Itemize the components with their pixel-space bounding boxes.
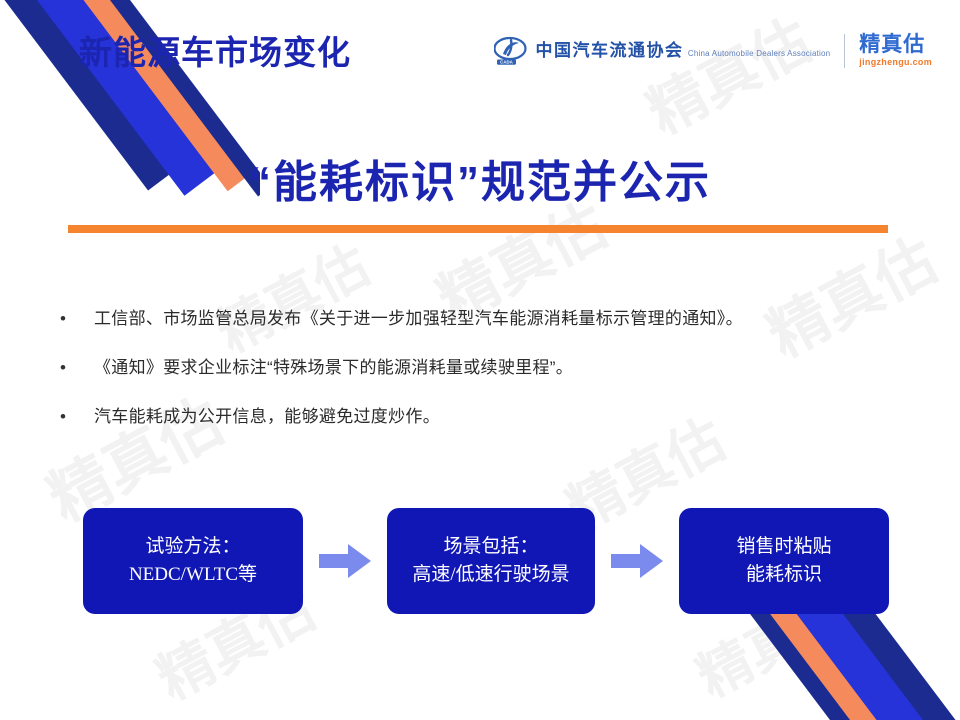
arrow-right-icon — [611, 541, 663, 581]
flow-step-2-line1: 场景包括： — [443, 533, 538, 562]
header-title: 新能源车市场变化 — [79, 32, 351, 73]
bullet-marker-icon: • — [60, 306, 94, 332]
cada-text-block: 中国汽车流通协会 China Automobile Dealers Associ… — [535, 42, 830, 61]
bullet-text: 汽车能耗成为公开信息，能够避免过度炒作。 — [94, 404, 440, 430]
svg-text:CADA: CADA — [501, 60, 515, 65]
flow-arrow-2 — [595, 541, 679, 581]
flow-step-3: 销售时粘贴 能耗标识 — [679, 508, 889, 614]
bullet-list: • 工信部、市场监管总局发布《关于进一步加强轻型汽车能源消耗量标示管理的通知》。… — [60, 306, 900, 453]
flow-step-2-line2: 高速/低速行驶场景 — [412, 561, 569, 590]
bullet-marker-icon: • — [60, 404, 94, 430]
jingzhengu-name-cn: 精真估 — [859, 34, 932, 56]
list-item: • 汽车能耗成为公开信息，能够避免过度炒作。 — [60, 404, 900, 430]
title-underline-rule — [68, 225, 888, 233]
logo-lockup: CADA 中国汽车流通协会 China Automobile Dealers A… — [494, 34, 932, 69]
jingzhengu-logo: 精真估 jingzhengu.com — [859, 34, 932, 69]
cada-emblem-icon: CADA — [494, 36, 528, 66]
bullet-text: 《通知》要求企业标注“特殊场景下的能源消耗量或续驶里程”。 — [94, 355, 573, 381]
page-title: “能耗标识”规范并公示 — [0, 146, 960, 210]
list-item: • 《通知》要求企业标注“特殊场景下的能源消耗量或续驶里程”。 — [60, 355, 900, 381]
flow-arrow-1 — [303, 541, 387, 581]
list-item: • 工信部、市场监管总局发布《关于进一步加强轻型汽车能源消耗量标示管理的通知》。 — [60, 306, 900, 332]
process-flow-diagram: 试验方法： NEDC/WLTC等 场景包括： 高速/低速行驶场景 销售时粘贴 能 — [83, 508, 889, 614]
logo-divider — [844, 34, 845, 68]
flow-step-3-line1: 销售时粘贴 — [736, 533, 831, 562]
flow-step-1: 试验方法： NEDC/WLTC等 — [83, 508, 303, 614]
flow-step-1-line2: NEDC/WLTC等 — [129, 561, 257, 590]
jingzhengu-url: jingzhengu.com — [859, 56, 932, 69]
cada-logo: CADA 中国汽车流通协会 China Automobile Dealers A… — [494, 36, 830, 66]
watermark-text: 精真估 — [630, 0, 823, 150]
bullet-marker-icon: • — [60, 355, 94, 381]
flow-step-2: 场景包括： 高速/低速行驶场景 — [387, 508, 595, 614]
cada-name-en: China Automobile Dealers Association — [688, 49, 830, 58]
arrow-right-icon — [319, 541, 371, 581]
cada-name-cn: 中国汽车流通协会 — [535, 41, 683, 60]
flow-step-1-line1: 试验方法： — [145, 533, 240, 562]
bullet-text: 工信部、市场监管总局发布《关于进一步加强轻型汽车能源消耗量标示管理的通知》。 — [94, 306, 743, 332]
slide-canvas: 精真估 精真估 精真估 精真估 精真估 精真估 精真估 精真估 新能源车市场变化 — [0, 0, 960, 720]
flow-step-3-line2: 能耗标识 — [746, 561, 822, 590]
